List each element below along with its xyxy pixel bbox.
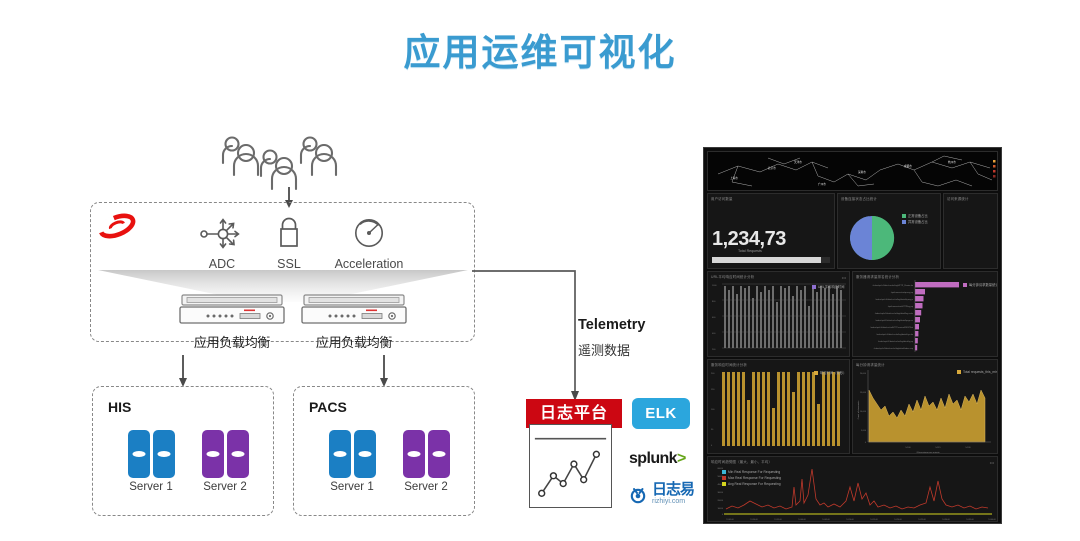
magenta-bars-legend: 每分钟请求数量统计 — [963, 282, 998, 287]
svg-text:/index/api/v1/data/cache/log/d: /index/api/v1/data/cache/log/detail/q.js… — [878, 340, 914, 343]
svg-text:成都市: 成都市 — [904, 164, 912, 168]
arrow-lb-to-pacs — [377, 355, 391, 388]
panel-title: 服务响应时间统计分析 — [711, 362, 747, 367]
legend-swatch — [722, 476, 726, 480]
svg-text:14:35:00: 14:35:00 — [966, 519, 973, 521]
svg-text:50: 50 — [711, 429, 714, 431]
splunk-wordmark: splunk — [629, 450, 677, 467]
splunk-chevron-icon: > — [677, 450, 686, 467]
page-title: 应用运维可视化 — [0, 22, 1080, 76]
legend-label: 每分钟请求数量统计 — [969, 282, 998, 287]
telemetry-label-cn: 遥测数据 — [578, 340, 630, 359]
his-server-2: Server 2 — [194, 430, 256, 493]
appliance-lb-2: 应用负载均衡 — [300, 294, 408, 351]
rizhiyi-logo: 日志易 rizhiyi.com — [629, 482, 694, 505]
legend-swatch — [722, 470, 726, 474]
svg-text:/index/api/v1/data/cache/log/d: /index/api/v1/data/cache/log/detail/page… — [875, 319, 913, 322]
progress-bar — [712, 257, 830, 263]
feature-acceleration: Acceleration — [324, 216, 414, 271]
rizhiyi-mark-icon — [629, 484, 649, 504]
panel-title: URL平均响应时间统计分析 — [711, 274, 754, 279]
appliance-lb-1-label: 应用负载均衡 — [178, 332, 286, 351]
dashboard-panel-service-response[interactable]: 服务响应时间统计分析 200150 — [707, 359, 850, 454]
response-line-chart: 6000050000 4000030000 20000100000 13:45:… — [708, 457, 998, 522]
dashboard-panel-map[interactable]: 上海市北京市 天津市广州市 深圳市成都市 杭州市 — [707, 151, 998, 191]
svg-text:天津市: 天津市 — [794, 160, 802, 164]
server-unit — [128, 430, 150, 478]
panel-menu-icon[interactable]: ••• — [842, 275, 846, 280]
arrow-lb-to-his — [176, 355, 190, 388]
legend-label: Total requests_this_minute — [963, 370, 998, 374]
appliance-lb-1: 应用负载均衡 — [178, 294, 286, 351]
svg-text:深圳市: 深圳市 — [858, 170, 866, 174]
panel-title: 每分钟请求量统计 — [856, 362, 885, 367]
panel-title: 服务器请求量排名统计分析 — [856, 274, 899, 279]
radware-swirl-logo — [96, 209, 138, 243]
svg-text:14:00:00: 14:00:00 — [798, 519, 805, 521]
svg-text:13:45:00: 13:45:00 — [726, 519, 733, 521]
pacs-label: PACS — [309, 399, 347, 415]
legend-label: Min Real Response For Requesting — [728, 470, 780, 474]
server-unit — [428, 430, 450, 478]
svg-text:13:50:00: 13:50:00 — [750, 519, 757, 521]
server-unit — [202, 430, 224, 478]
gold-area-legend: Total requests_this_minute — [957, 370, 998, 374]
panel-menu-icon[interactable]: ••• — [990, 460, 994, 465]
response-legend-item-0: Min Real Response For Requesting — [722, 470, 780, 474]
server-pair — [395, 430, 457, 478]
server-pair — [321, 430, 383, 478]
svg-text:0: 0 — [711, 445, 713, 447]
svg-text:14:05:00: 14:05:00 — [822, 519, 829, 521]
his-server-2-label: Server 2 — [194, 481, 256, 493]
panel-title: 响应时间趋势图（最大、最小、平均） — [711, 459, 772, 464]
slide-root: 应用运维可视化 — [0, 0, 1080, 541]
svg-text:/index/api/v1/data/cache/log/d: /index/api/v1/data/cache/log/detail/quer… — [875, 298, 913, 301]
elk-badge[interactable]: ELK — [632, 398, 690, 429]
ssl-lock-icon — [274, 216, 304, 250]
dashboard-panel-response-trend[interactable]: 响应时间趋势图（最大、最小、平均） ••• 6000050000 4000030… — [707, 456, 998, 522]
his-server-1: Server 1 — [120, 430, 182, 493]
svg-text:150: 150 — [711, 389, 715, 391]
line-chart-thumbnail — [529, 424, 612, 508]
gold-bars-legend: 响应时间（毫秒） — [814, 370, 846, 375]
legend-label: Avg Real Response For Requesting — [728, 482, 781, 486]
legend-label: 响应时间（毫秒） — [820, 370, 846, 375]
rizhiyi-name-en: rizhiyi.com — [652, 498, 694, 505]
svg-text:/index/api/v1/data/cache/log/d: /index/api/v1/data/cache/log/detail/log.… — [875, 312, 913, 315]
legend-label: URL平均响应时间 — [818, 284, 844, 289]
server-pair — [194, 430, 256, 478]
legend-label: 异常设备占比 — [908, 219, 928, 224]
url-bars-legend: URL平均响应时间 — [812, 284, 844, 289]
svg-text:杭州市: 杭州市 — [948, 160, 956, 164]
svg-text:上海市: 上海市 — [730, 176, 738, 180]
pacs-server-2: Server 2 — [395, 430, 457, 493]
svg-text:14:25:00: 14:25:00 — [918, 519, 925, 521]
svg-text:200: 200 — [711, 373, 715, 375]
telemetry-label-en: Telemetry — [578, 317, 645, 333]
pie-legend-item-0: 正常设备占比 — [902, 213, 928, 218]
map-graphic: 上海市北京市 天津市广州市 深圳市成都市 杭州市 — [708, 152, 998, 191]
svg-text:0: 0 — [865, 442, 867, 444]
legend-swatch — [902, 214, 906, 218]
acceleration-gauge-icon — [351, 216, 387, 250]
svg-text:800: 800 — [712, 301, 716, 303]
his-server-1-label: Server 1 — [120, 481, 182, 493]
svg-text:20,000: 20,000 — [860, 373, 867, 375]
svg-text:600: 600 — [712, 317, 716, 319]
panel-title: 用户访问数量 — [711, 196, 733, 201]
svg-text:20000: 20000 — [717, 500, 723, 502]
pie-legend-item-1: 异常设备占比 — [902, 219, 928, 224]
pacs-server-1: Server 1 — [321, 430, 383, 493]
server-unit — [403, 430, 425, 478]
svg-text:/index/api/v1/data/cache/log/d: /index/api/v1/data/cache/log/detail/inde… — [874, 347, 914, 350]
appliance-lb-2-label: 应用负载均衡 — [300, 332, 408, 351]
svg-text:/api/transaction/HTTPlog.jsp: /api/transaction/HTTPlog.jsp — [888, 305, 914, 308]
svg-text:0: 0 — [722, 514, 724, 516]
legend-swatch — [814, 371, 818, 375]
thumbnail-svg — [530, 425, 611, 507]
svg-text:14:15:00: 14:15:00 — [870, 519, 877, 521]
panel-title: 设备连接状态占比统计 — [841, 196, 877, 201]
rizhiyi-name-cn: 日志易 — [652, 482, 694, 497]
panel-title: 访问来源统计 — [947, 196, 969, 201]
dashboard-panel-source-stats[interactable]: 访问来源统计 — [943, 193, 998, 269]
svg-text:/api/transaction/query.jsp: /api/transaction/query.jsp — [891, 291, 914, 294]
svg-text:10,000: 10,000 — [860, 411, 867, 413]
legend-swatch — [722, 482, 726, 486]
svg-text:30000: 30000 — [717, 492, 723, 494]
legend-label: 正常设备占比 — [908, 213, 928, 218]
svg-text:14:10:00: 14:10:00 — [846, 519, 853, 521]
svg-text:/index/api/v1/data/cache/log/d: /index/api/v1/data/cache/log/detail/sys.… — [877, 333, 914, 336]
svg-text:广州市: 广州市 — [818, 182, 826, 186]
svg-text:14:30:00: 14:30:00 — [942, 519, 949, 521]
svg-text:10000: 10000 — [717, 508, 723, 510]
his-label: HIS — [108, 399, 131, 415]
pie-chart — [838, 194, 941, 269]
legend-swatch — [957, 370, 961, 374]
svg-text:/index/api/v1/data/cache/log/H: /index/api/v1/data/cache/log/HTTP_Router… — [873, 284, 914, 287]
dashboard-panel-url-response[interactable]: URL平均响应时间统计分析 ••• — [707, 271, 850, 357]
svg-text:14:00: 14:00 — [905, 447, 911, 449]
splunk-logo: splunk> — [629, 450, 686, 468]
pacs-server-1-label: Server 1 — [321, 481, 383, 493]
server-unit — [354, 430, 376, 478]
svg-text:14:15: 14:15 — [935, 447, 941, 449]
dashboard-panel-total-requests[interactable]: 用户访问数量 1,234,73 Total Requests — [707, 193, 835, 269]
telemetry-connector — [470, 270, 590, 405]
legend-swatch — [902, 220, 906, 224]
pacs-server-2-label: Server 2 — [395, 481, 457, 493]
svg-text:15,000: 15,000 — [860, 392, 867, 394]
adc-distribution-icon — [199, 216, 245, 250]
feature-ssl: SSL — [244, 216, 334, 271]
svg-text:100: 100 — [711, 409, 715, 411]
legend-swatch — [812, 285, 816, 289]
total-requests-subtitle: Total Requests — [738, 249, 762, 253]
response-legend-item-2: Avg Real Response For Requesting — [722, 482, 781, 486]
svg-text:14:30: 14:30 — [965, 447, 971, 449]
dashboard-panel-requests-per-minute[interactable]: 每分钟请求量统计 20,00015,000 10,0005,0000 14:00… — [852, 359, 998, 454]
svg-text:400: 400 — [712, 333, 716, 335]
svg-text:/index/api/v1/data/cache/HTTPs: /index/api/v1/data/cache/HTTPservice/RES… — [870, 326, 913, 329]
svg-text:5,000: 5,000 — [861, 430, 867, 432]
legend-label: Max Real Response For Requesting — [728, 476, 781, 480]
monitoring-dashboard[interactable]: 上海市北京市 天津市广州市 深圳市成都市 杭州市 用户访问数量 1,234,73… — [703, 147, 1002, 524]
server-unit — [329, 430, 351, 478]
total-requests-value: 1,234,73 — [712, 228, 786, 251]
svg-text:北京市: 北京市 — [768, 166, 776, 170]
server-unit — [153, 430, 175, 478]
rack-appliance-icon — [178, 294, 286, 326]
legend-swatch — [963, 283, 967, 287]
server-unit — [227, 430, 249, 478]
svg-text:200: 200 — [712, 349, 716, 351]
svg-text:14:40:00: 14:40:00 — [988, 519, 995, 521]
svg-text:13:55:00: 13:55:00 — [774, 519, 781, 521]
dashboard-panel-request-ranking[interactable]: 服务器请求量排名统计分析 /index/api/v1/data/cache — [852, 271, 998, 357]
response-legend-item-1: Max Real Response For Requesting — [722, 476, 781, 480]
svg-text:@timestamp per minute: @timestamp per minute — [916, 451, 940, 454]
rack-appliance-icon — [300, 294, 408, 326]
gold-area-chart: 20,00015,000 10,0005,0000 14:0014:1514:3… — [853, 360, 998, 454]
rizhiyi-text: 日志易 rizhiyi.com — [652, 482, 694, 505]
svg-text:Count of documents: Count of documents — [857, 401, 860, 420]
dashboard-panel-pie[interactable]: 设备连接状态占比统计 正常设备占比 异常设备占比 — [837, 193, 941, 269]
svg-text:1000: 1000 — [712, 285, 717, 287]
server-pair — [120, 430, 182, 478]
svg-text:14:20:00: 14:20:00 — [894, 519, 901, 521]
